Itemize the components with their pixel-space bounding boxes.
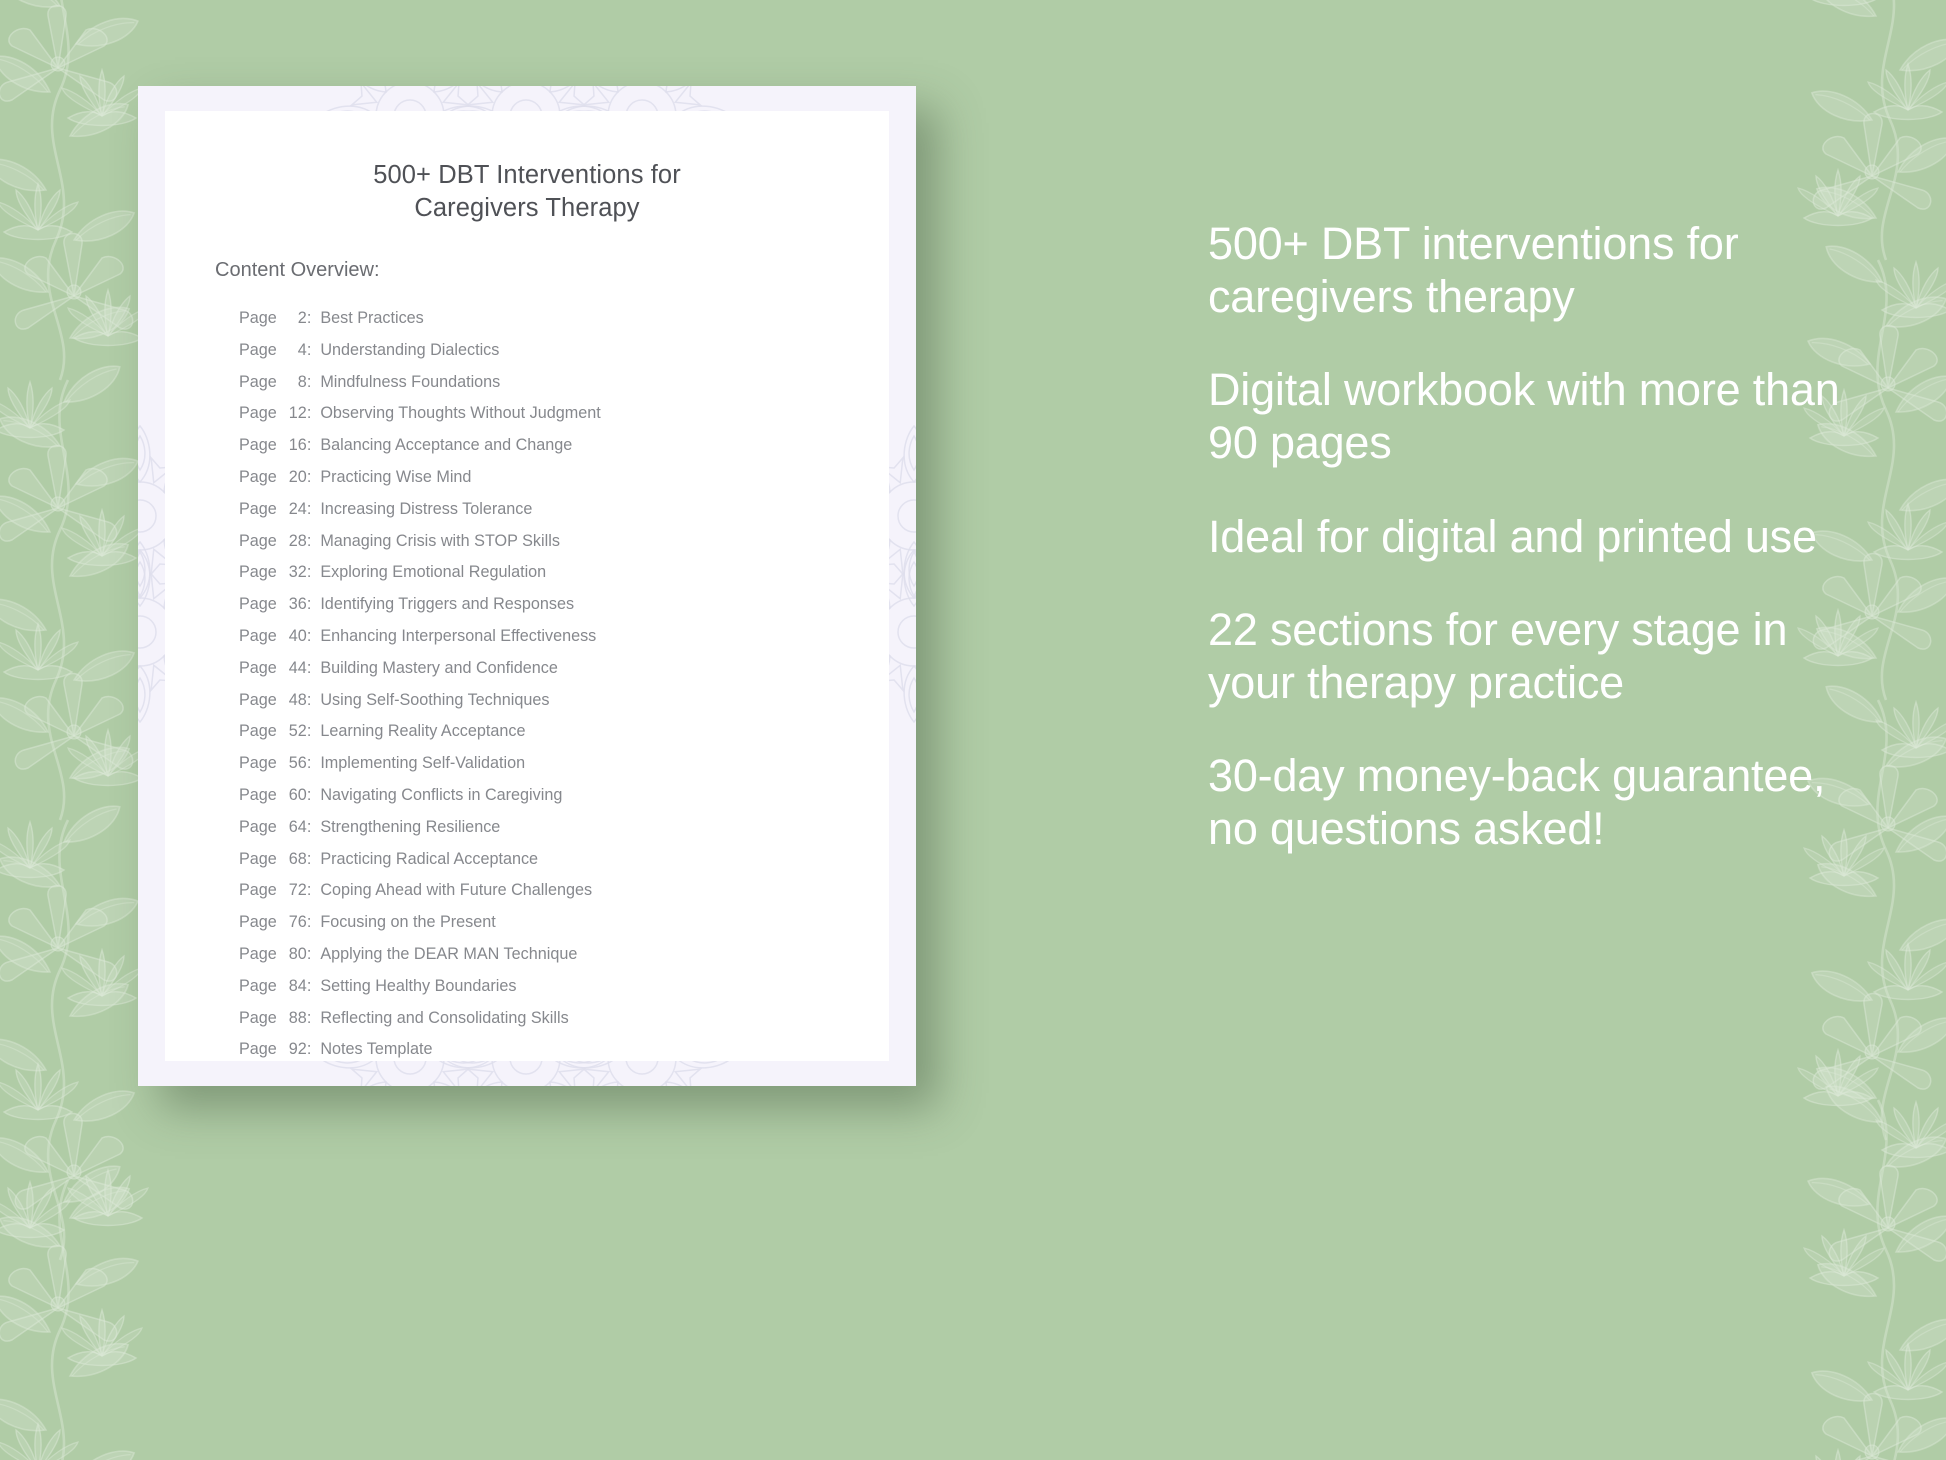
toc-row: Page80:Applying the DEAR MAN Technique: [239, 945, 869, 977]
toc-page-word: Page: [239, 563, 277, 582]
toc-entry-title: Observing Thoughts Without Judgment: [320, 404, 600, 423]
toc-page-word: Page: [239, 532, 277, 551]
toc-entry-title: Applying the DEAR MAN Technique: [320, 945, 577, 964]
toc-colon: :: [307, 945, 321, 964]
toc-page-number: 84: [277, 977, 307, 996]
toc-page-word: Page: [239, 1009, 277, 1028]
toc-row: Page60:Navigating Conflicts in Caregivin…: [239, 786, 869, 818]
toc-entry-title: Focusing on the Present: [320, 913, 495, 932]
toc-page-number: 8: [277, 373, 307, 392]
toc-row: Page44:Building Mastery and Confidence: [239, 659, 869, 691]
toc-page-word: Page: [239, 341, 277, 360]
toc-colon: :: [307, 436, 321, 455]
toc-row: Page72:Coping Ahead with Future Challeng…: [239, 881, 869, 913]
toc-entry-title: Navigating Conflicts in Caregiving: [320, 786, 562, 805]
toc-entry-title: Increasing Distress Tolerance: [320, 500, 532, 519]
toc-colon: :: [307, 722, 321, 741]
toc-row: Page28:Managing Crisis with STOP Skills: [239, 532, 869, 564]
toc-colon: :: [307, 1009, 321, 1028]
toc-colon: :: [307, 786, 321, 805]
document-page: 500+ DBT Interventions for Caregivers Th…: [165, 111, 889, 1061]
toc-row: Page92:Notes Template: [239, 1040, 869, 1061]
marketing-bullet: 30-day money-back guarantee, no question…: [1208, 750, 1848, 855]
toc-page-word: Page: [239, 850, 277, 869]
marketing-bullet-list: 500+ DBT interventions for caregivers th…: [1208, 218, 1848, 856]
marketing-bullet: 500+ DBT interventions for caregivers th…: [1208, 218, 1848, 323]
toc-page-number: 44: [277, 659, 307, 678]
toc-page-number: 16: [277, 436, 307, 455]
toc-page-word: Page: [239, 404, 277, 423]
toc-row: Page32:Exploring Emotional Regulation: [239, 563, 869, 595]
toc-page-number: 60: [277, 786, 307, 805]
toc-entry-title: Using Self-Soothing Techniques: [320, 691, 549, 710]
toc-colon: :: [307, 691, 321, 710]
toc-entry-title: Notes Template: [320, 1040, 432, 1059]
toc-page-word: Page: [239, 659, 277, 678]
toc-entry-title: Mindfulness Foundations: [320, 373, 500, 392]
toc-row: Page56:Implementing Self-Validation: [239, 754, 869, 786]
toc-page-word: Page: [239, 1040, 277, 1059]
toc-page-number: 68: [277, 850, 307, 869]
toc-entry-title: Coping Ahead with Future Challenges: [320, 881, 592, 900]
toc-entry-title: Setting Healthy Boundaries: [320, 977, 516, 996]
toc-entry-title: Exploring Emotional Regulation: [320, 563, 546, 582]
toc-row: Page4:Understanding Dialectics: [239, 341, 869, 373]
toc-row: Page12:Observing Thoughts Without Judgme…: [239, 404, 869, 436]
toc-row: Page24:Increasing Distress Tolerance: [239, 500, 869, 532]
toc-colon: :: [307, 754, 321, 773]
marketing-bullet: Ideal for digital and printed use: [1208, 511, 1848, 564]
toc-row: Page8:Mindfulness Foundations: [239, 373, 869, 405]
toc-page-word: Page: [239, 786, 277, 805]
toc-colon: :: [307, 500, 321, 519]
toc-entry-title: Implementing Self-Validation: [320, 754, 525, 773]
table-of-contents: Page2:Best PracticesPage4:Understanding …: [239, 309, 869, 1061]
toc-colon: :: [307, 563, 321, 582]
toc-page-number: 20: [277, 468, 307, 487]
toc-page-number: 24: [277, 500, 307, 519]
toc-row: Page36:Identifying Triggers and Response…: [239, 595, 869, 627]
toc-colon: :: [307, 1040, 321, 1059]
toc-page-number: 12: [277, 404, 307, 423]
toc-page-number: 80: [277, 945, 307, 964]
toc-entry-title: Managing Crisis with STOP Skills: [320, 532, 560, 551]
toc-page-number: 72: [277, 881, 307, 900]
content-overview-label: Content Overview:: [215, 259, 380, 282]
toc-entry-title: Practicing Radical Acceptance: [320, 850, 538, 869]
toc-entry-title: Practicing Wise Mind: [320, 468, 471, 487]
toc-page-word: Page: [239, 913, 277, 932]
toc-colon: :: [307, 881, 321, 900]
toc-page-word: Page: [239, 691, 277, 710]
toc-page-number: 76: [277, 913, 307, 932]
toc-page-word: Page: [239, 818, 277, 837]
toc-page-word: Page: [239, 945, 277, 964]
toc-entry-title: Understanding Dialectics: [320, 341, 499, 360]
toc-colon: :: [307, 627, 321, 646]
toc-entry-title: Enhancing Interpersonal Effectiveness: [320, 627, 596, 646]
toc-colon: :: [307, 468, 321, 487]
toc-page-word: Page: [239, 722, 277, 741]
toc-page-word: Page: [239, 436, 277, 455]
toc-colon: :: [307, 404, 321, 423]
toc-page-word: Page: [239, 754, 277, 773]
toc-entry-title: Strengthening Resilience: [320, 818, 500, 837]
toc-row: Page84:Setting Healthy Boundaries: [239, 977, 869, 1009]
toc-row: Page88:Reflecting and Consolidating Skil…: [239, 1009, 869, 1041]
toc-row: Page68:Practicing Radical Acceptance: [239, 850, 869, 882]
toc-entry-title: Reflecting and Consolidating Skills: [320, 1009, 568, 1028]
toc-page-number: 92: [277, 1040, 307, 1059]
toc-entry-title: Learning Reality Acceptance: [320, 722, 525, 741]
page-title-line1: 500+ DBT Interventions for: [373, 161, 681, 189]
toc-page-word: Page: [239, 373, 277, 392]
toc-entry-title: Best Practices: [320, 309, 423, 328]
toc-page-word: Page: [239, 468, 277, 487]
toc-page-number: 64: [277, 818, 307, 837]
toc-entry-title: Building Mastery and Confidence: [320, 659, 558, 678]
toc-colon: :: [307, 659, 321, 678]
toc-page-word: Page: [239, 977, 277, 996]
toc-row: Page48:Using Self-Soothing Techniques: [239, 691, 869, 723]
toc-row: Page16:Balancing Acceptance and Change: [239, 436, 869, 468]
toc-page-word: Page: [239, 881, 277, 900]
toc-page-word: Page: [239, 309, 277, 328]
toc-colon: :: [307, 977, 321, 996]
page-title-line2: Caregivers Therapy: [414, 194, 639, 222]
toc-colon: :: [307, 373, 321, 392]
toc-colon: :: [307, 850, 321, 869]
toc-row: Page2:Best Practices: [239, 309, 869, 341]
toc-page-word: Page: [239, 500, 277, 519]
toc-page-number: 36: [277, 595, 307, 614]
marketing-bullet: Digital workbook with more than 90 pages: [1208, 364, 1848, 469]
toc-page-number: 88: [277, 1009, 307, 1028]
toc-page-number: 2: [277, 309, 307, 328]
toc-colon: :: [307, 309, 321, 328]
toc-page-word: Page: [239, 595, 277, 614]
toc-colon: :: [307, 341, 321, 360]
toc-page-number: 28: [277, 532, 307, 551]
page-title: 500+ DBT Interventions for Caregivers Th…: [165, 159, 889, 224]
toc-row: Page20:Practicing Wise Mind: [239, 468, 869, 500]
toc-page-word: Page: [239, 627, 277, 646]
toc-page-number: 48: [277, 691, 307, 710]
toc-row: Page52:Learning Reality Acceptance: [239, 722, 869, 754]
toc-entry-title: Balancing Acceptance and Change: [320, 436, 572, 455]
toc-page-number: 4: [277, 341, 307, 360]
toc-entry-title: Identifying Triggers and Responses: [320, 595, 574, 614]
toc-colon: :: [307, 913, 321, 932]
toc-colon: :: [307, 595, 321, 614]
toc-page-number: 52: [277, 722, 307, 741]
product-card: 500+ DBT Interventions for Caregivers Th…: [138, 86, 916, 1086]
toc-row: Page40:Enhancing Interpersonal Effective…: [239, 627, 869, 659]
toc-page-number: 56: [277, 754, 307, 773]
toc-row: Page76:Focusing on the Present: [239, 913, 869, 945]
toc-page-number: 32: [277, 563, 307, 582]
toc-colon: :: [307, 818, 321, 837]
marketing-bullet: 22 sections for every stage in your ther…: [1208, 604, 1848, 709]
toc-colon: :: [307, 532, 321, 551]
toc-page-number: 40: [277, 627, 307, 646]
toc-row: Page64:Strengthening Resilience: [239, 818, 869, 850]
